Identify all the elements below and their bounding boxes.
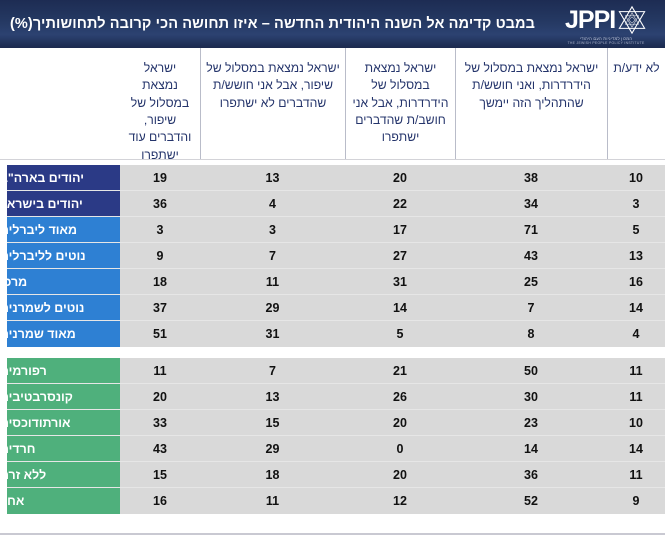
row-label: יהודים בארה"ב <box>0 165 120 190</box>
cell-improve-more: 9 <box>120 243 200 268</box>
cell-improve-more: 19 <box>120 165 200 190</box>
cell-dont-know: 10 <box>607 165 665 190</box>
cell-improve-worry: 11 <box>200 488 345 514</box>
row-label: ללא זרם <box>0 462 120 487</box>
row-label: מאוד שמרנים <box>0 321 120 347</box>
row-label: רפורמים <box>0 358 120 383</box>
table-row[interactable]: 5711733מאוד ליברלים <box>0 217 665 243</box>
cell-improve-worry: 3 <box>200 217 345 242</box>
table-row[interactable]: 141402943חרדים <box>0 436 665 462</box>
cell-dont-know: 11 <box>607 384 665 409</box>
cell-decline-hope: 26 <box>345 384 455 409</box>
cell-improve-worry: 7 <box>200 243 345 268</box>
cell-improve-more: 20 <box>120 384 200 409</box>
row-label: מרכז <box>0 269 120 294</box>
cell-decline-hope: 27 <box>345 243 455 268</box>
table-group-population-and-political-leaning: 1038201319יהודים בארה"ב33422436יהודים בי… <box>0 165 665 347</box>
column-header-improve-worry: ישראל נמצאת במסלול של שיפור, אבל אני חוש… <box>200 48 345 159</box>
cell-improve-more: 3 <box>120 217 200 242</box>
cell-decline-worry: 38 <box>455 165 607 190</box>
cell-improve-worry: 13 <box>200 165 345 190</box>
row-label: חרדים <box>0 436 120 461</box>
cell-decline-worry: 71 <box>455 217 607 242</box>
cell-improve-more: 43 <box>120 436 200 461</box>
table-group-denomination: 115021711רפורמים1130261320קונסרבטיבים102… <box>0 358 665 514</box>
table-bottom-spacer <box>0 514 665 528</box>
jppi-logo: JPPI המכון למדיניות <box>541 0 665 48</box>
cell-decline-hope: 31 <box>345 269 455 294</box>
column-header-row-label-spacer <box>0 48 120 159</box>
cell-dont-know: 3 <box>607 191 665 216</box>
cell-decline-hope: 0 <box>345 436 455 461</box>
cell-decline-hope: 5 <box>345 321 455 347</box>
cell-dont-know: 9 <box>607 488 665 514</box>
cell-decline-hope: 12 <box>345 488 455 514</box>
cell-decline-worry: 43 <box>455 243 607 268</box>
row-label: נוטים לשמרנים <box>0 295 120 320</box>
row-label: מאוד ליברלים <box>0 217 120 242</box>
logo-subtitle-english: THE JEWISH PEOPLE POLICY INSTITUTE <box>568 41 645 45</box>
column-header-improve-more: ישראל נמצאת במסלול של שיפור, והדברים עוד… <box>120 48 200 159</box>
table-row[interactable]: 33422436יהודים בישראל <box>0 191 665 217</box>
cell-improve-worry: 29 <box>200 295 345 320</box>
table-row[interactable]: 952121116אחר <box>0 488 665 514</box>
cell-improve-more: 18 <box>120 269 200 294</box>
cell-improve-worry: 13 <box>200 384 345 409</box>
cell-improve-worry: 4 <box>200 191 345 216</box>
cell-dont-know: 14 <box>607 295 665 320</box>
cell-decline-worry: 50 <box>455 358 607 383</box>
table-row[interactable]: 1136201815ללא זרם <box>0 462 665 488</box>
table-row[interactable]: 115021711רפורמים <box>0 358 665 384</box>
cell-dont-know: 11 <box>607 358 665 383</box>
cell-decline-worry: 7 <box>455 295 607 320</box>
cell-decline-worry: 34 <box>455 191 607 216</box>
cell-decline-worry: 52 <box>455 488 607 514</box>
cell-dont-know: 4 <box>607 321 665 347</box>
table-body: 1038201319יהודים בארה"ב33422436יהודים בי… <box>0 160 665 528</box>
table-row[interactable]: 1130261320קונסרבטיבים <box>0 384 665 410</box>
table-row[interactable]: 147142937נוטים לשמרנים <box>0 295 665 321</box>
row-label: אורתודוכסים <box>0 410 120 435</box>
cell-improve-more: 11 <box>120 358 200 383</box>
column-header-dont-know: לא ידע/ת <box>607 48 665 159</box>
table-group-gap <box>0 347 665 358</box>
row-label: קונסרבטיבים <box>0 384 120 409</box>
cell-dont-know: 16 <box>607 269 665 294</box>
table-row[interactable]: 1625311118מרכז <box>0 269 665 295</box>
cell-decline-hope: 21 <box>345 358 455 383</box>
row-label: נוטים לליברלים <box>0 243 120 268</box>
cell-decline-worry: 14 <box>455 436 607 461</box>
logo-main-lockup: JPPI <box>565 5 647 35</box>
cell-improve-more: 51 <box>120 321 200 347</box>
cell-decline-worry: 30 <box>455 384 607 409</box>
cell-improve-worry: 31 <box>200 321 345 347</box>
cell-improve-more: 36 <box>120 191 200 216</box>
cell-improve-worry: 15 <box>200 410 345 435</box>
page-header: במבט קדימה אל השנה היהודית החדשה – איזו … <box>0 0 665 48</box>
column-header-decline-worry: ישראל נמצאת במסלול של הידרדרות, ואני חוש… <box>455 48 607 159</box>
table-row[interactable]: 1023201533אורתודוכסים <box>0 410 665 436</box>
page-root: במבט קדימה אל השנה היהודית החדשה – איזו … <box>0 0 665 535</box>
cell-decline-hope: 22 <box>345 191 455 216</box>
cell-improve-worry: 7 <box>200 358 345 383</box>
cell-decline-worry: 36 <box>455 462 607 487</box>
cell-decline-worry: 23 <box>455 410 607 435</box>
column-header-decline-hope: ישראל נמצאת במסלול של הידרדרות, אבל אני … <box>345 48 455 159</box>
cell-improve-more: 16 <box>120 488 200 514</box>
cell-decline-hope: 20 <box>345 462 455 487</box>
cell-improve-more: 15 <box>120 462 200 487</box>
cell-dont-know: 11 <box>607 462 665 487</box>
cell-decline-hope: 20 <box>345 410 455 435</box>
table-row[interactable]: 1038201319יהודים בארה"ב <box>0 165 665 191</box>
table-row[interactable]: 4853151מאוד שמרנים <box>0 321 665 347</box>
cell-improve-more: 33 <box>120 410 200 435</box>
cell-improve-worry: 29 <box>200 436 345 461</box>
cell-decline-worry: 25 <box>455 269 607 294</box>
cell-dont-know: 10 <box>607 410 665 435</box>
cell-improve-worry: 18 <box>200 462 345 487</box>
table-row[interactable]: 13432779נוטים לליברלים <box>0 243 665 269</box>
star-of-david-icon <box>617 5 647 35</box>
cell-dont-know: 14 <box>607 436 665 461</box>
cell-dont-know: 13 <box>607 243 665 268</box>
logo-wordmark: JPPI <box>565 8 615 33</box>
cell-decline-hope: 14 <box>345 295 455 320</box>
cell-decline-worry: 8 <box>455 321 607 347</box>
cell-dont-know: 5 <box>607 217 665 242</box>
cell-improve-worry: 11 <box>200 269 345 294</box>
table-left-edge <box>0 160 7 528</box>
cell-decline-hope: 17 <box>345 217 455 242</box>
row-label: אחר <box>0 488 120 514</box>
table-column-headers: לא ידע/ת ישראל נמצאת במסלול של הידרדרות,… <box>0 48 665 160</box>
row-label: יהודים בישראל <box>0 191 120 216</box>
cell-decline-hope: 20 <box>345 165 455 190</box>
cell-improve-more: 37 <box>120 295 200 320</box>
page-title: במבט קדימה אל השנה היהודית החדשה – איזו … <box>0 16 541 32</box>
